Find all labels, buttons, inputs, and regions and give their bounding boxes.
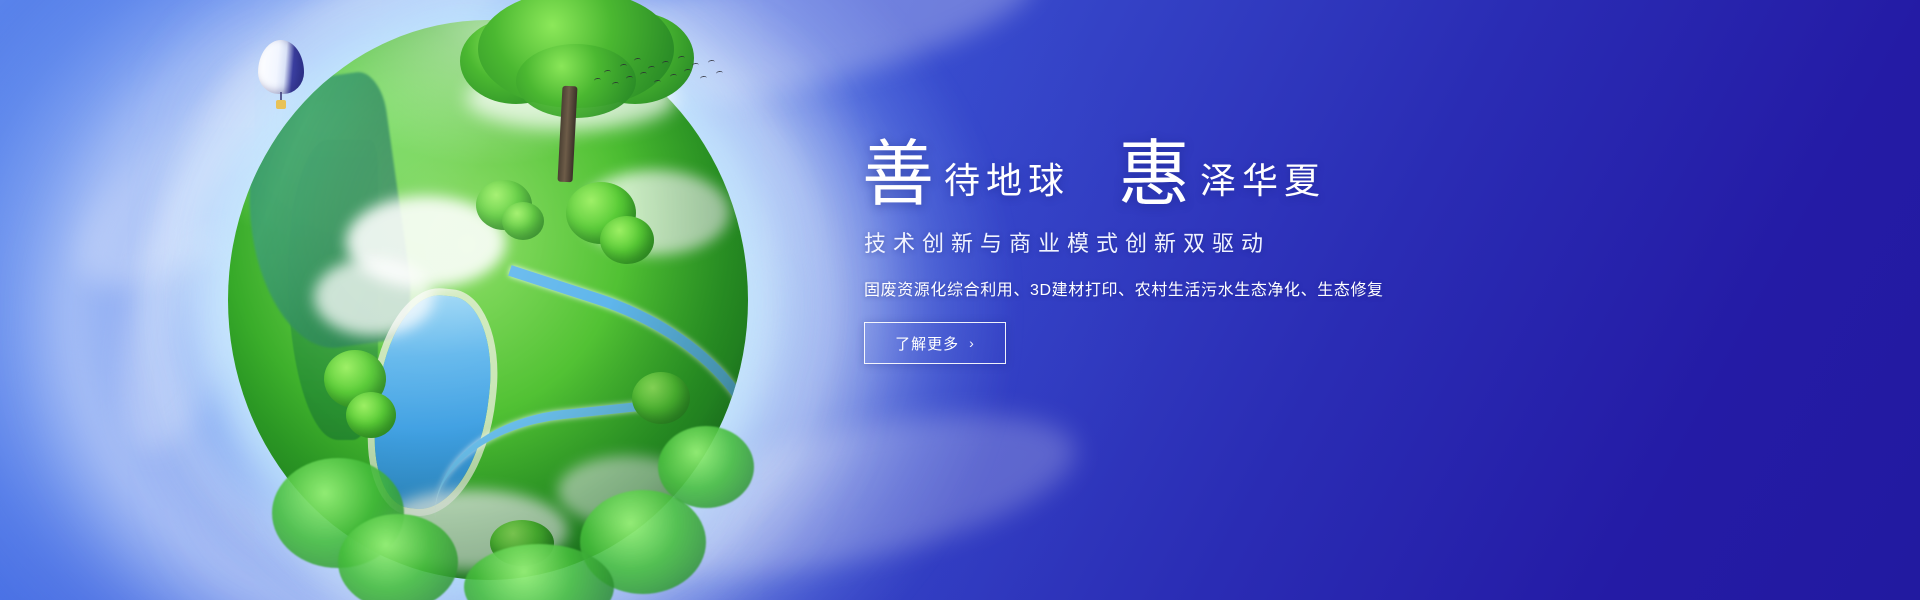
learn-more-button[interactable]: 了解更多 ›	[864, 322, 1006, 364]
bird-icon	[708, 60, 716, 66]
bird-icon	[654, 80, 662, 86]
subtitle: 技术创新与商业模式创新双驱动	[864, 226, 1562, 258]
bush-icon	[502, 202, 544, 240]
bird-icon	[648, 66, 656, 72]
bird-icon	[612, 82, 620, 88]
bird-icon	[640, 72, 648, 78]
bird-icon	[670, 74, 678, 80]
tagline: 固废资源化综合利用、3D建材打印、农村生活污水生态净化、生态修复	[864, 276, 1562, 300]
bird-icon	[620, 64, 628, 70]
bush-icon	[476, 180, 532, 230]
green-planet-illustration	[228, 20, 748, 580]
bush-icon	[632, 372, 690, 424]
headline-char-1: 善	[862, 138, 934, 210]
forest-mountains	[232, 69, 418, 357]
hero-banner: 善 待地球 惠 泽华夏 技术创新与商业模式创新双驱动 固废资源化综合利用、3D建…	[0, 0, 1920, 600]
cloud-icon	[580, 170, 730, 255]
mountain-ridge	[288, 140, 378, 440]
bird-icon	[662, 61, 670, 67]
bird-icon	[678, 56, 686, 62]
cloud-icon	[314, 258, 434, 336]
cloud-icon	[346, 196, 506, 288]
hot-air-balloon-icon	[258, 40, 304, 112]
bush-icon	[324, 350, 386, 408]
bird-icon	[700, 76, 708, 82]
tree-icon	[658, 426, 754, 508]
headline-char-2: 惠	[1118, 138, 1190, 210]
learn-more-label: 了解更多	[895, 333, 959, 354]
bird-icon	[634, 58, 642, 64]
bush-icon	[600, 216, 654, 264]
bird-icon	[626, 76, 634, 82]
headline-text-1: 待地球	[944, 164, 1070, 200]
chevron-right-icon: ›	[969, 336, 975, 350]
birds-flock-icon	[592, 52, 722, 98]
page-title: 善 待地球 惠 泽华夏	[862, 132, 1562, 204]
tree-icon	[338, 514, 458, 600]
balloon-envelope	[258, 40, 304, 94]
balloon-basket	[276, 100, 286, 109]
bird-icon	[594, 78, 602, 84]
headline-text-2: 泽华夏	[1200, 164, 1326, 200]
bird-icon	[684, 69, 692, 75]
hero-content: 善 待地球 惠 泽华夏 技术创新与商业模式创新双驱动 固废资源化综合利用、3D建…	[862, 132, 1562, 364]
bush-icon	[346, 392, 396, 438]
bird-icon	[604, 70, 612, 76]
bird-icon	[692, 63, 700, 69]
bush-icon	[566, 182, 636, 244]
